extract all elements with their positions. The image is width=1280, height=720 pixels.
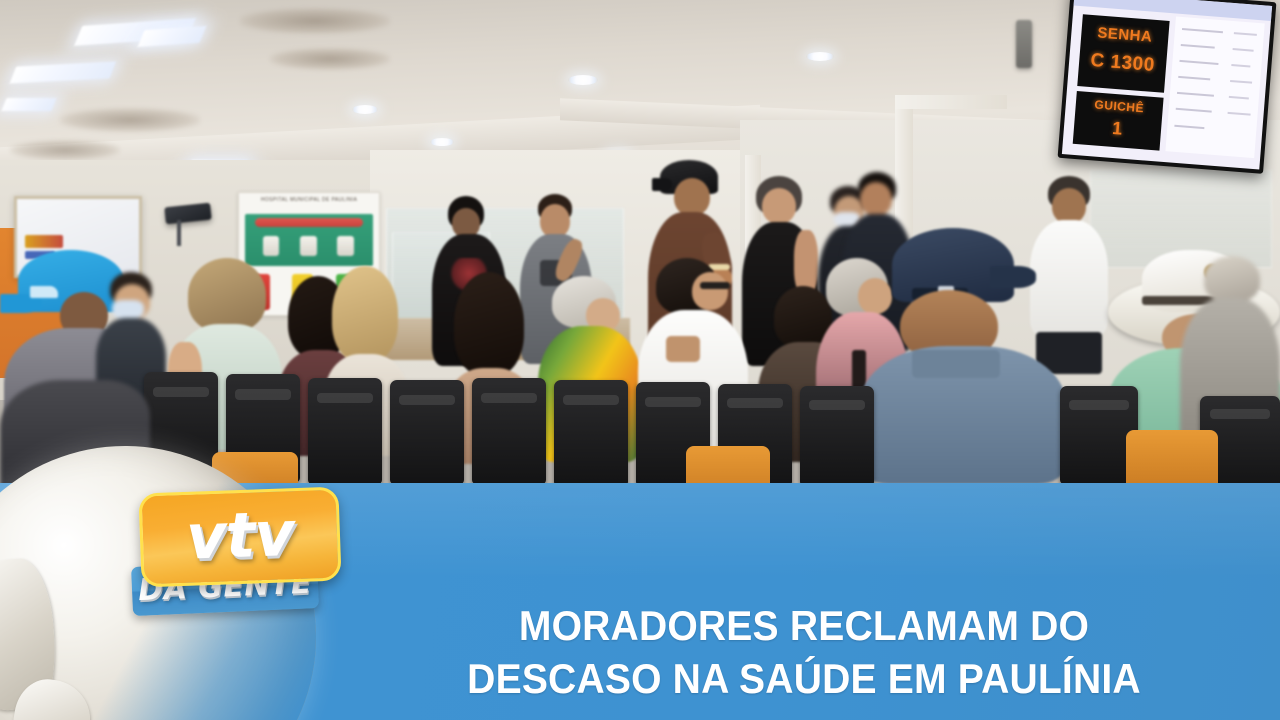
channel-logo: DA GENTE vtv — [132, 490, 334, 615]
list-row — [1231, 64, 1251, 68]
ceiling-downlight — [568, 75, 598, 85]
counter-label: GUICHÊ — [1075, 96, 1163, 117]
waiting-chair — [554, 380, 628, 486]
list-row — [1174, 124, 1204, 128]
cap-brim — [990, 266, 1036, 288]
ceiling-water-stain — [240, 8, 390, 34]
list-row — [1182, 28, 1223, 33]
list-row — [1229, 96, 1250, 100]
list-row — [1177, 92, 1214, 97]
counter-value: 1 — [1073, 115, 1161, 143]
poster-icon — [337, 236, 354, 256]
head — [762, 188, 796, 224]
ceiling-water-stain — [270, 48, 390, 70]
list-row — [1180, 60, 1219, 65]
projection-content — [25, 235, 63, 248]
logo-primary-text: vtv — [142, 501, 338, 570]
face-mask — [112, 300, 144, 320]
cap-brim — [652, 178, 672, 191]
waiting-chair — [472, 378, 546, 484]
headline-text-block: MORADORES RECLAMAM DO DESCASO NA SAÚDE E… — [352, 604, 1256, 702]
list-row — [1232, 48, 1253, 52]
poster-red-banner — [255, 218, 363, 227]
queue-display-tv: SENHA C 1300 GUICHÊ 1 — [1058, 0, 1277, 174]
called-tickets-list — [1165, 17, 1264, 158]
lower-third: DA GENTE vtv MORADORES RECLAMAM DO DESCA… — [0, 483, 1280, 720]
head — [1052, 188, 1086, 224]
list-row — [1234, 32, 1257, 36]
head — [692, 272, 728, 310]
tv-screen: SENHA C 1300 GUICHÊ 1 — [1062, 0, 1272, 170]
ticket-panel: SENHA C 1300 — [1077, 14, 1170, 93]
poster-icon — [300, 236, 317, 256]
list-row — [1227, 112, 1250, 116]
waiting-chair — [390, 380, 464, 484]
counter-panel: GUICHÊ 1 — [1073, 91, 1164, 150]
head — [674, 178, 710, 216]
hair — [332, 266, 398, 362]
hair — [188, 258, 266, 332]
hair — [1204, 256, 1260, 302]
speaker-mount — [177, 220, 181, 246]
ticket-value: C 1300 — [1078, 49, 1167, 78]
ceiling-downlight — [806, 52, 834, 61]
cap-logo — [30, 286, 58, 298]
ceiling-water-stain — [60, 108, 200, 132]
logo-primary-box: vtv — [138, 487, 341, 588]
head — [540, 204, 570, 238]
list-row — [1230, 80, 1252, 84]
denim-collar — [912, 350, 1000, 378]
list-row — [1178, 76, 1210, 81]
shirt-cutout — [666, 336, 700, 362]
hair — [454, 272, 524, 376]
list-row — [1181, 44, 1215, 49]
ceiling-downlight — [352, 105, 378, 114]
broadcast-frame: HOSPITAL MUNICIPAL DE PAULÍNIA SENHA — [0, 0, 1280, 720]
waiting-chair — [308, 378, 382, 484]
headline-line-2: DESCASO NA SAÚDE EM PAULÍNIA — [384, 657, 1225, 702]
ticket-label: SENHA — [1081, 23, 1169, 47]
list-row — [1176, 108, 1212, 113]
glasses-icon — [700, 282, 730, 289]
poster-title: HOSPITAL MUNICIPAL DE PAULÍNIA — [245, 197, 374, 213]
head — [860, 182, 892, 216]
seated-person-navy-cap-denim — [860, 228, 1066, 484]
waiting-chair — [800, 386, 874, 486]
ceiling-downlight — [430, 138, 454, 146]
door-frame — [895, 95, 1007, 109]
ceiling-water-stain — [10, 140, 120, 160]
poster-icon — [263, 236, 280, 256]
ceiling-panel-light — [1, 98, 56, 111]
tv-wall-mount — [1016, 20, 1032, 68]
headline-line-1: MORADORES RECLAMAM DO — [384, 604, 1225, 649]
